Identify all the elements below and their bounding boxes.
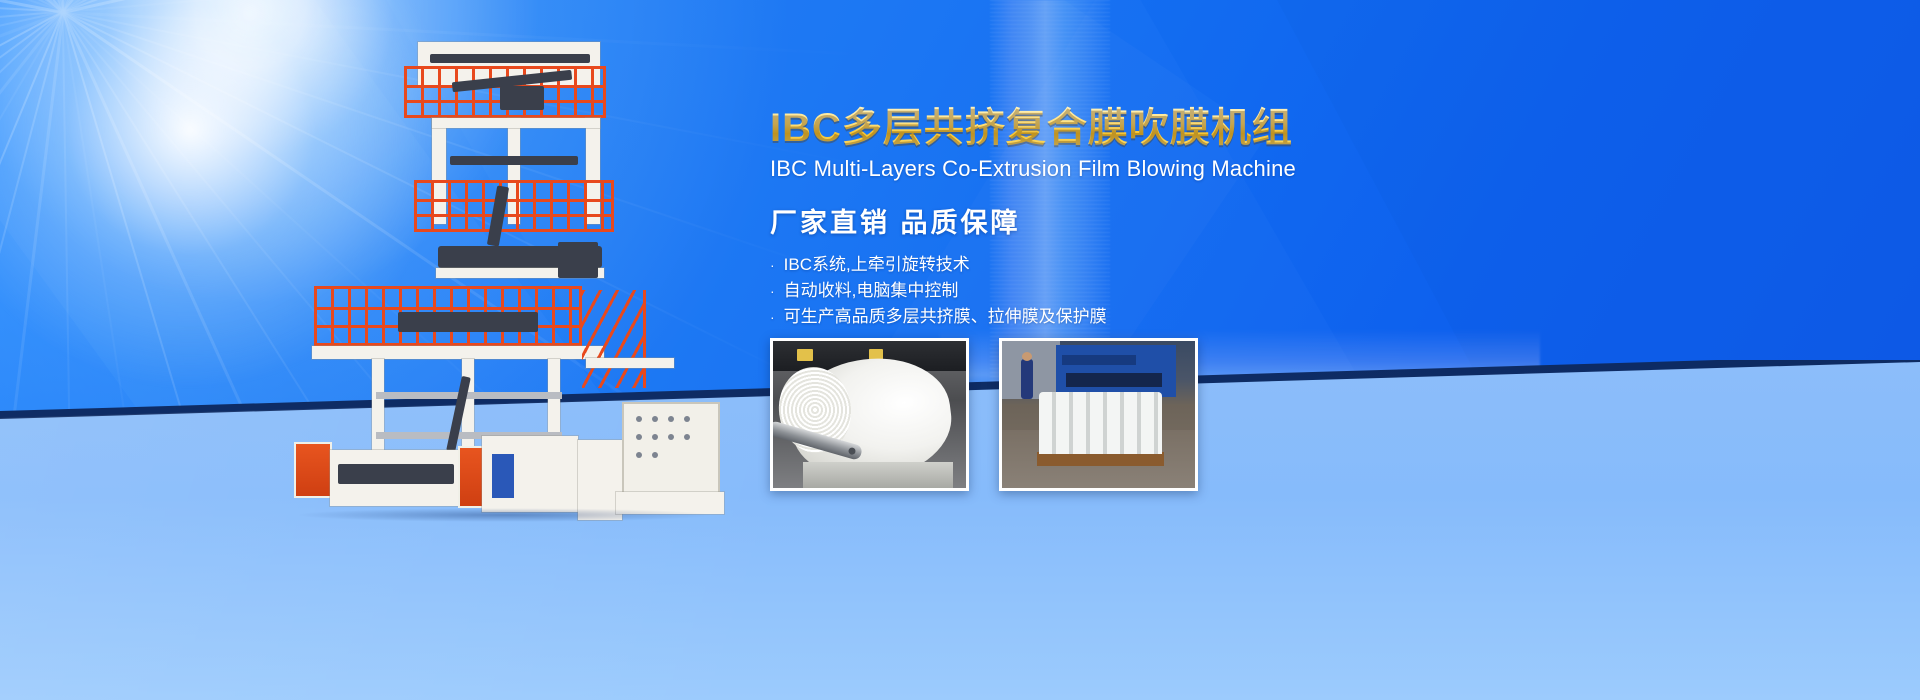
list-item-label: IBC系统,上牵引旋转技术 xyxy=(784,252,970,278)
machine-photo xyxy=(286,40,726,515)
title-chinese: IBC多层共挤复合膜吹膜机组 xyxy=(770,104,1470,152)
banner-copy: IBC多层共挤复合膜吹膜机组 IBC多层共挤复合膜吹膜机组 IBC Multi-… xyxy=(770,104,1470,330)
product-photo-pallet-rolls xyxy=(999,338,1198,491)
list-item: · 可生产高品质多层共挤膜、拉伸膜及保护膜 xyxy=(770,304,1470,330)
control-cabinet xyxy=(622,402,720,494)
slogan: 厂家直销 品质保障 xyxy=(770,204,1470,242)
feature-list: · IBC系统,上牵引旋转技术 · 自动收料,电脑集中控制 · 可生产高品质多层… xyxy=(770,252,1470,330)
bullet-dot-icon: · xyxy=(770,278,775,304)
title-english: IBC Multi-Layers Co-Extrusion Film Blowi… xyxy=(770,154,1470,184)
bullet-dot-icon: · xyxy=(770,252,775,278)
list-item: · 自动收料,电脑集中控制 xyxy=(770,278,1470,304)
product-photo-gallery xyxy=(770,338,1198,491)
list-item-label: 可生产高品质多层共挤膜、拉伸膜及保护膜 xyxy=(784,304,1107,330)
list-item-label: 自动收料,电脑集中控制 xyxy=(784,278,959,304)
product-banner: IBC多层共挤复合膜吹膜机组 IBC多层共挤复合膜吹膜机组 IBC Multi-… xyxy=(0,0,1920,700)
list-item: · IBC系统,上牵引旋转技术 xyxy=(770,252,1470,278)
machine-tower xyxy=(286,40,726,515)
title-wrapper: IBC多层共挤复合膜吹膜机组 IBC多层共挤复合膜吹膜机组 xyxy=(770,104,1470,152)
product-photo-film-roll xyxy=(770,338,969,491)
bullet-dot-icon: · xyxy=(770,304,775,330)
